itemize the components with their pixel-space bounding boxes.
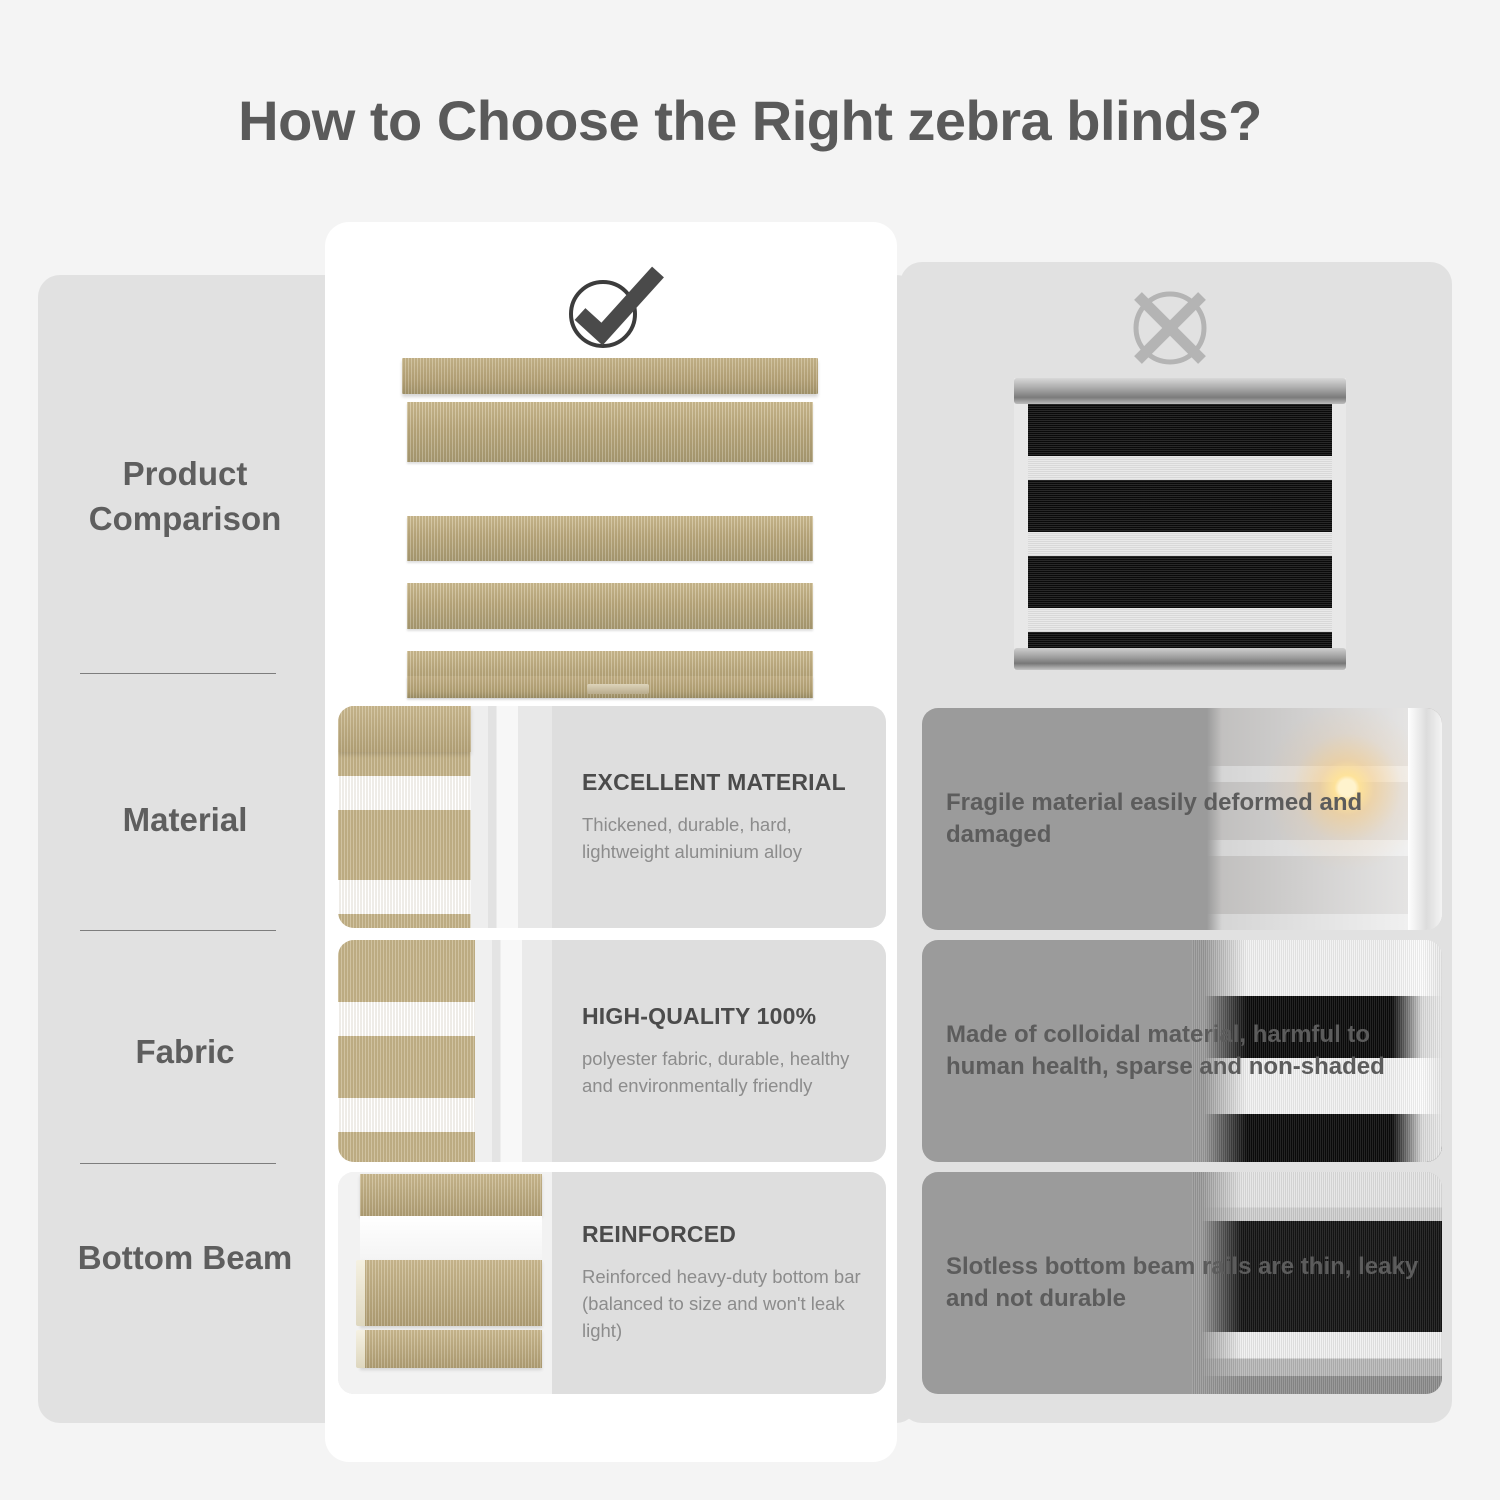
blind-end-cap xyxy=(356,1330,365,1368)
good-feature-title: HIGH-QUALITY 100% xyxy=(582,1003,866,1030)
blind-slat xyxy=(360,1174,542,1216)
page-title: How to Choose the Right zebra blinds? xyxy=(0,88,1500,153)
blind-slat xyxy=(360,1260,542,1326)
bad-feature-text: Made of colloidal material, harmful to h… xyxy=(946,1019,1422,1084)
cross-circle-icon xyxy=(1120,282,1220,374)
bad-feature-card-fabric: Made of colloidal material, harmful to h… xyxy=(922,940,1442,1162)
sidebar-divider xyxy=(80,1163,276,1164)
blind-pull-tab xyxy=(587,684,649,694)
sidebar-item-material: Material xyxy=(60,798,310,843)
sidebar-item-bottom-beam: Bottom Beam xyxy=(60,1236,310,1281)
bad-feature-text: Fragile material easily deformed and dam… xyxy=(946,787,1422,852)
wooden-blind-headrail-closeup xyxy=(338,706,552,928)
blind-bottom-rail xyxy=(1014,648,1346,670)
good-feature-card-material: EXCELLENT MATERIAL Thickened, durable, h… xyxy=(338,706,886,928)
good-feature-image-bottom-beam xyxy=(338,1172,552,1394)
blind-slat xyxy=(407,402,813,462)
blind-end-cap xyxy=(356,1260,365,1326)
check-circle-icon xyxy=(550,262,670,352)
good-hero-blind-image xyxy=(407,358,813,696)
bad-feature-card-material: Fragile material easily deformed and dam… xyxy=(922,708,1442,930)
bad-hero-blind-image xyxy=(1014,378,1346,670)
good-feature-image-fabric xyxy=(338,940,552,1162)
blind-headrail xyxy=(402,358,818,394)
sidebar-divider xyxy=(80,930,276,931)
blind-fabric xyxy=(1028,404,1332,648)
good-feature-title: EXCELLENT MATERIAL xyxy=(582,769,866,796)
wooden-blind-bottom-bar-closeup xyxy=(338,1172,552,1394)
good-feature-body: Thickened, durable, hard, lightweight al… xyxy=(582,812,866,866)
good-feature-card-fabric: HIGH-QUALITY 100% polyester fabric, dura… xyxy=(338,940,886,1162)
sidebar-divider xyxy=(80,673,276,674)
good-feature-title: REINFORCED xyxy=(582,1221,866,1248)
blind-slat xyxy=(407,583,813,629)
sidebar-item-product-comparison: Product Comparison xyxy=(60,452,310,541)
wooden-blind-fabric-closeup xyxy=(338,940,552,1162)
bad-feature-card-bottom-beam: Slotless bottom beam rails are thin, lea… xyxy=(922,1172,1442,1394)
good-feature-image-material xyxy=(338,706,552,928)
good-feature-card-bottom-beam: REINFORCED Reinforced heavy-duty bottom … xyxy=(338,1172,886,1394)
good-feature-body: polyester fabric, durable, healthy and e… xyxy=(582,1046,866,1100)
sidebar-item-fabric: Fabric xyxy=(60,1030,310,1075)
bad-feature-text: Slotless bottom beam rails are thin, lea… xyxy=(946,1251,1422,1316)
blind-bottom-bar xyxy=(407,676,813,698)
blind-slat xyxy=(407,516,813,561)
infographic-root: How to Choose the Right zebra blinds? Pr… xyxy=(0,0,1500,1500)
blind-sheer-gap xyxy=(360,1216,542,1260)
blind-headrail xyxy=(1014,378,1346,404)
good-feature-body: Reinforced heavy-duty bottom bar (balanc… xyxy=(582,1264,866,1344)
blind-bottom-bar xyxy=(360,1330,542,1368)
